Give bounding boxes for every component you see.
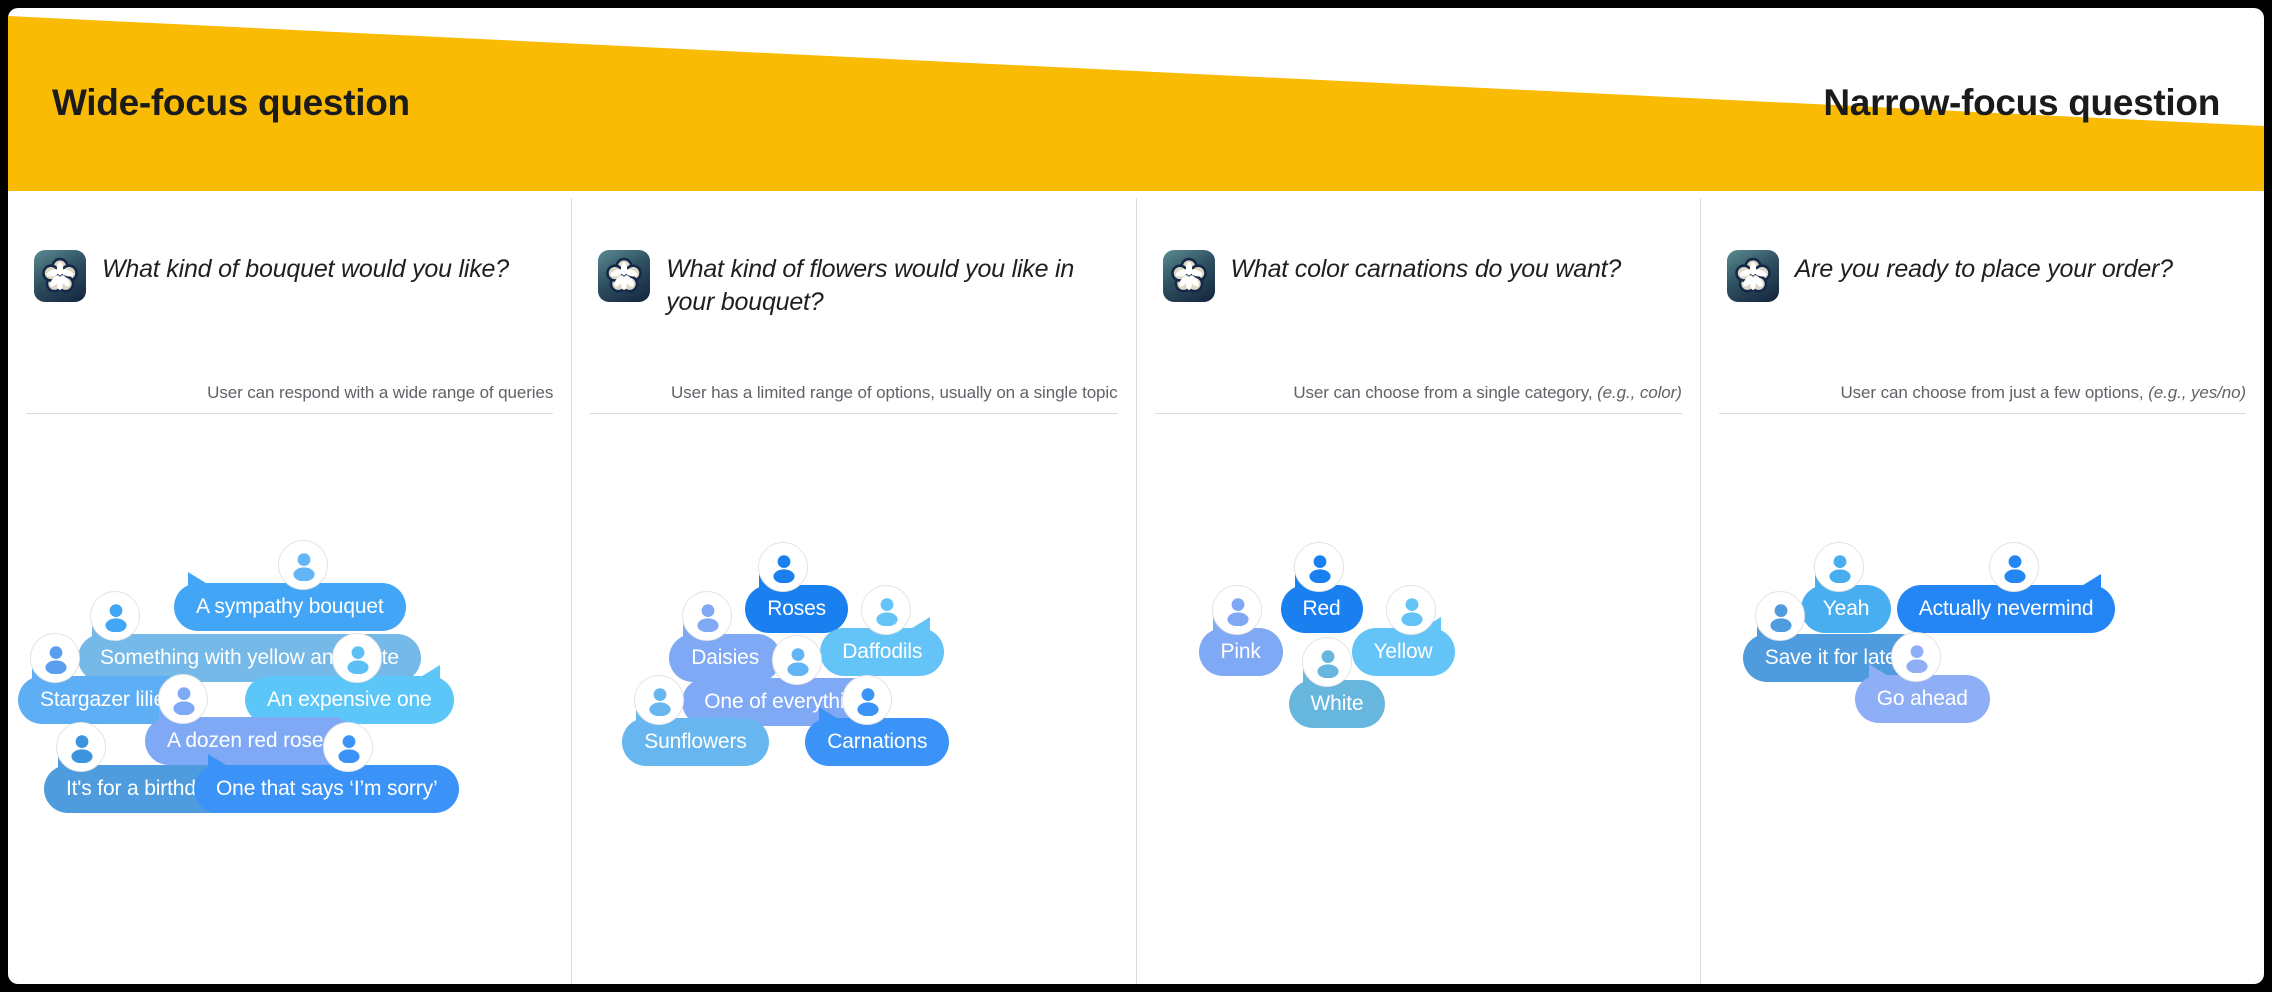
- response-bubble[interactable]: Roses: [745, 585, 848, 633]
- screenshot-frame: Wide-focus question Narrow-focus questio…: [0, 0, 2272, 992]
- response-bubble[interactable]: Red: [1281, 585, 1363, 633]
- response-bubble[interactable]: Carnations: [805, 718, 949, 766]
- avatar: [323, 722, 373, 772]
- avatar: [1891, 632, 1941, 682]
- person-glyph: [871, 596, 903, 626]
- person-glyph: [1222, 596, 1254, 626]
- person-glyph: [1312, 648, 1344, 678]
- person-glyph: [40, 644, 72, 674]
- avatar: [1302, 637, 1352, 687]
- user-response-cluster: RosesDaffodilsDaisiesOne of everythingSu…: [572, 198, 1135, 984]
- response-bubble[interactable]: Actually nevermind: [1897, 585, 2116, 633]
- person-glyph: [66, 733, 98, 763]
- wide-focus-label: Wide-focus question: [52, 82, 410, 124]
- avatar: [842, 675, 892, 725]
- user-response-cluster: A sympathy bouquetSomething with yellow …: [8, 198, 571, 984]
- person-glyph: [1765, 602, 1797, 632]
- avatar: [1814, 542, 1864, 592]
- avatar: [772, 635, 822, 685]
- person-glyph: [1901, 643, 1933, 673]
- focus-column-2: What kind of flowers would you like in y…: [572, 198, 1136, 984]
- avatar: [1386, 585, 1436, 635]
- focus-column-4: Are you ready to place your order?User c…: [1701, 198, 2264, 984]
- person-glyph: [1824, 553, 1856, 583]
- response-bubble[interactable]: Daisies: [669, 634, 781, 682]
- person-glyph: [333, 733, 365, 763]
- person-glyph: [644, 686, 676, 716]
- columns-container: What kind of bouquet would you like?User…: [8, 198, 2264, 984]
- person-glyph: [782, 646, 814, 676]
- avatar: [56, 722, 106, 772]
- avatar: [332, 633, 382, 683]
- avatar: [634, 675, 684, 725]
- person-glyph: [1999, 553, 2031, 583]
- avatar: [682, 591, 732, 641]
- response-bubble[interactable]: Yellow: [1352, 628, 1455, 676]
- focus-column-1: What kind of bouquet would you like?User…: [8, 198, 572, 984]
- response-bubble[interactable]: White: [1289, 680, 1386, 728]
- avatar: [90, 591, 140, 641]
- person-glyph: [342, 644, 374, 674]
- person-glyph: [692, 602, 724, 632]
- person-glyph: [1304, 553, 1336, 583]
- response-bubble[interactable]: Sunflowers: [622, 718, 768, 766]
- avatar: [861, 585, 911, 635]
- narrow-focus-label: Narrow-focus question: [1823, 82, 2220, 124]
- response-bubble[interactable]: One that says ‘I’m sorry’: [194, 765, 459, 813]
- response-bubble[interactable]: Pink: [1199, 628, 1283, 676]
- response-bubble[interactable]: Yeah: [1801, 585, 1892, 633]
- diagram-card: Wide-focus question Narrow-focus questio…: [8, 8, 2264, 984]
- person-glyph: [1396, 596, 1428, 626]
- user-response-cluster: YeahActually nevermindSave it for laterG…: [1701, 198, 2264, 984]
- avatar: [1989, 542, 2039, 592]
- avatar: [1212, 585, 1262, 635]
- avatar: [1755, 591, 1805, 641]
- person-glyph: [768, 553, 800, 583]
- avatar: [758, 542, 808, 592]
- user-response-cluster: RedPinkYellowWhite: [1137, 198, 1700, 984]
- avatar: [158, 674, 208, 724]
- avatar: [1294, 542, 1344, 592]
- person-glyph: [100, 602, 132, 632]
- response-bubble[interactable]: Go ahead: [1855, 675, 1990, 723]
- person-glyph: [852, 686, 884, 716]
- person-glyph: [168, 685, 200, 715]
- person-glyph: [288, 551, 320, 581]
- avatar: [30, 633, 80, 683]
- response-bubble[interactable]: Daffodils: [820, 628, 944, 676]
- response-bubble[interactable]: A sympathy bouquet: [174, 583, 406, 631]
- avatar: [278, 540, 328, 590]
- focus-column-3: What color carnations do you want?User c…: [1137, 198, 1701, 984]
